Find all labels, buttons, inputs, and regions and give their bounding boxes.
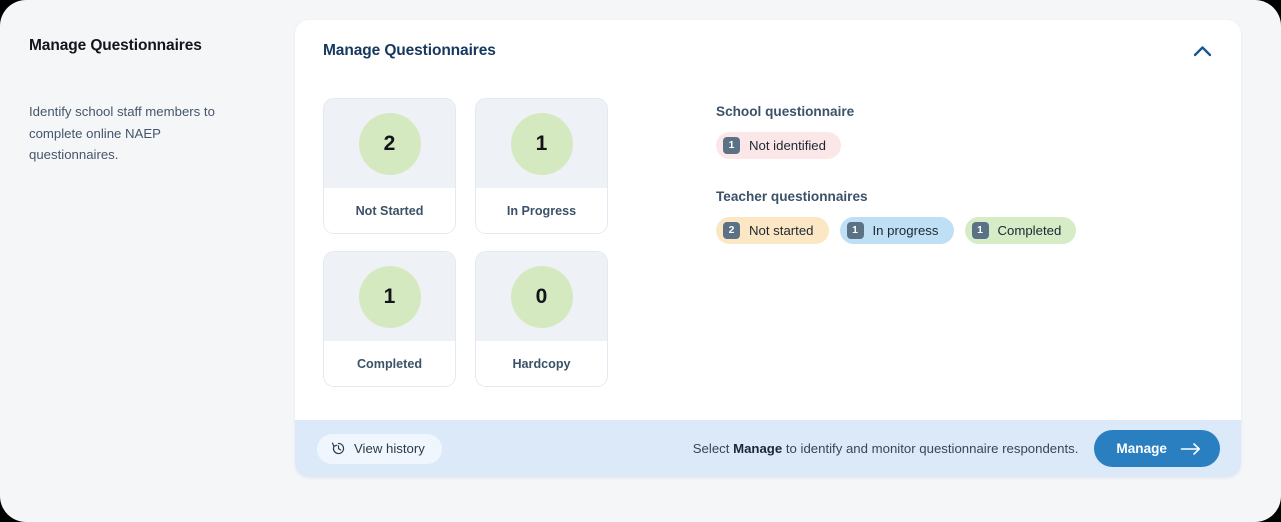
sidebar: Manage Questionnaires Identify school st… <box>0 0 295 522</box>
status-group-title: Teacher questionnaires <box>716 189 1213 204</box>
collapse-toggle-button[interactable] <box>1185 34 1219 68</box>
hint-prefix: Select <box>693 441 733 456</box>
badge-count: 2 <box>723 222 740 239</box>
badge-not-started[interactable]: 2 Not started <box>716 217 829 244</box>
badge-label: Not started <box>749 224 814 237</box>
stat-value-circle: 1 <box>359 266 421 328</box>
stat-value-circle: 1 <box>511 113 573 175</box>
badge-count: 1 <box>972 222 989 239</box>
view-history-button[interactable]: View history <box>317 434 442 464</box>
badge-not-identified[interactable]: 1 Not identified <box>716 132 841 159</box>
manage-questionnaires-card: Manage Questionnaires 2 Not Started <box>295 20 1241 477</box>
status-panel: School questionnaire 1 Not identified Te… <box>623 98 1213 420</box>
arrow-right-icon <box>1180 442 1202 456</box>
page-root: Manage Questionnaires Identify school st… <box>0 0 1281 522</box>
stat-value-circle: 2 <box>359 113 421 175</box>
badge-in-progress[interactable]: 1 In progress <box>840 217 954 244</box>
stat-tile-top: 1 <box>476 99 607 188</box>
badge-completed[interactable]: 1 Completed <box>965 217 1077 244</box>
status-group-title: School questionnaire <box>716 104 1213 119</box>
stat-tile-top: 1 <box>324 252 455 341</box>
status-tile-grid: 2 Not Started 1 In Progress 1 Completed <box>323 98 623 420</box>
card-header: Manage Questionnaires <box>295 20 1241 82</box>
badge-count: 1 <box>847 222 864 239</box>
card-title: Manage Questionnaires <box>323 42 1185 60</box>
stat-tile-label: Not Started <box>324 188 455 233</box>
stat-value-circle: 0 <box>511 266 573 328</box>
footer-hint-text: Select Manage to identify and monitor qu… <box>693 441 1079 456</box>
badge-count: 1 <box>723 137 740 154</box>
badge-row: 1 Not identified <box>716 132 1213 159</box>
status-group-school: School questionnaire 1 Not identified <box>716 104 1213 159</box>
hint-bold: Manage <box>733 441 782 456</box>
stat-tile-top: 0 <box>476 252 607 341</box>
chevron-up-icon <box>1193 45 1212 57</box>
badge-label: In progress <box>873 224 939 237</box>
badge-row: 2 Not started 1 In progress 1 Completed <box>716 217 1213 244</box>
stat-tile-hardcopy[interactable]: 0 Hardcopy <box>475 251 608 387</box>
page-title: Manage Questionnaires <box>29 36 267 56</box>
manage-button[interactable]: Manage <box>1094 430 1220 467</box>
status-group-teacher: Teacher questionnaires 2 Not started 1 I… <box>716 189 1213 244</box>
card-footer: View history Select Manage to identify a… <box>295 420 1241 477</box>
stat-tile-label: Completed <box>324 341 455 386</box>
stat-tile-completed[interactable]: 1 Completed <box>323 251 456 387</box>
stat-tile-label: Hardcopy <box>476 341 607 386</box>
sidebar-description: Identify school staff members to complet… <box>29 101 251 165</box>
hint-suffix: to identify and monitor questionnaire re… <box>782 441 1078 456</box>
manage-button-label: Manage <box>1116 441 1167 456</box>
stat-tile-top: 2 <box>324 99 455 188</box>
stat-tile-not-started[interactable]: 2 Not Started <box>323 98 456 234</box>
history-icon <box>331 441 346 456</box>
stat-tile-label: In Progress <box>476 188 607 233</box>
card-body: 2 Not Started 1 In Progress 1 Completed <box>295 82 1241 420</box>
stat-tile-in-progress[interactable]: 1 In Progress <box>475 98 608 234</box>
badge-label: Not identified <box>749 139 826 152</box>
view-history-label: View history <box>354 441 425 456</box>
badge-label: Completed <box>998 224 1062 237</box>
